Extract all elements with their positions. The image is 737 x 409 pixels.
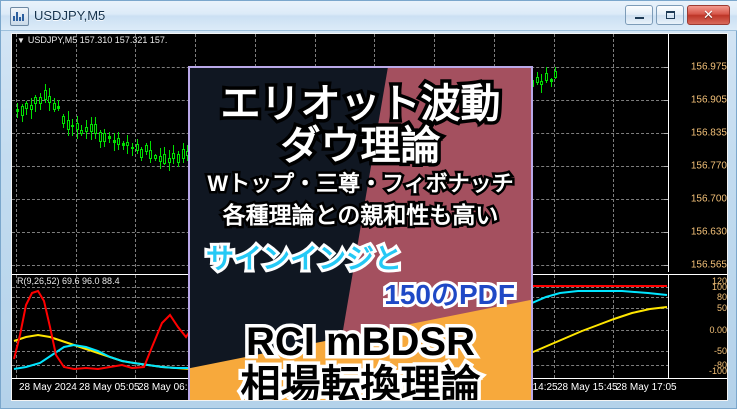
time-axis-label: 28 May 2024: [19, 382, 77, 393]
price-axis-label: 156.975: [691, 62, 727, 73]
candle-body: [71, 125, 74, 127]
candlestick: [34, 95, 37, 112]
overlay-line-2: ダウ理論: [190, 126, 531, 166]
candle-body: [545, 73, 548, 82]
candle-body: [44, 90, 47, 100]
candlestick: [90, 117, 93, 140]
price-axis-label: 156.905: [691, 95, 727, 106]
candlestick: [53, 98, 56, 112]
price-axis-label: 156.630: [691, 227, 727, 238]
overlay-line-3: Wトップ・三尊・フィボナッチ: [190, 173, 531, 195]
candle-body: [554, 71, 557, 78]
minimize-icon: [626, 6, 652, 24]
candle-body: [99, 132, 102, 143]
candle-body: [80, 130, 83, 134]
candle-body: [145, 145, 148, 152]
indicator-axis-label: -100: [709, 366, 727, 376]
candlestick: [76, 116, 79, 138]
candlestick: [131, 143, 134, 156]
candlestick: [136, 139, 139, 154]
candle-body: [39, 97, 42, 104]
candle-body: [53, 103, 56, 110]
candlestick: [103, 129, 106, 147]
candle-body: [62, 116, 65, 124]
candlestick: [57, 100, 60, 112]
gridline-v: [16, 34, 17, 272]
candlestick: [550, 78, 553, 87]
candle-body: [168, 158, 171, 164]
close-button[interactable]: ✕: [687, 5, 730, 25]
candlestick: [540, 74, 543, 93]
candlestick: [117, 132, 120, 151]
candle-body: [103, 133, 106, 141]
candlestick: [154, 154, 157, 161]
candlestick: [163, 147, 166, 165]
candlestick: [536, 72, 539, 85]
overlay-line-6: 150のPDF: [190, 281, 531, 309]
candle-body: [159, 156, 162, 162]
candlestick: [30, 98, 33, 119]
indicator-axis-separator: [668, 275, 669, 378]
title-bar[interactable]: USDJPY,M5 ✕: [1, 1, 737, 31]
candlestick: [126, 135, 129, 154]
candlestick: [94, 117, 97, 139]
candle-body: [57, 106, 60, 109]
candle-body: [94, 124, 97, 134]
candle-body: [67, 120, 70, 130]
candle-body: [90, 124, 93, 132]
candle-body: [163, 154, 166, 163]
indicator-axis-label: 80: [717, 292, 727, 302]
overlay-line-5: サインインジと: [190, 245, 531, 273]
candle-body: [76, 123, 79, 130]
overlay-line-4: 各種理論との親和性も高い: [190, 204, 531, 227]
candlestick: [62, 114, 65, 127]
overlay-line-8: 相場転換理論: [190, 365, 531, 401]
candlestick: [122, 141, 125, 150]
time-axis-label: 28 May 05:05: [79, 382, 140, 393]
candlestick: [168, 150, 171, 172]
candle-body: [140, 149, 143, 158]
candlestick: [172, 145, 175, 164]
collapse-arrow-icon[interactable]: ▼: [17, 36, 25, 45]
candlestick: [554, 67, 557, 79]
minimize-button[interactable]: [625, 5, 653, 25]
candle-body: [136, 144, 139, 151]
indicator-pane-label: R(9,26,52) 69.6 96.0 88.4: [17, 276, 120, 286]
price-axis-label: 156.835: [691, 128, 727, 139]
overlay-line-7: RCI mBDSR: [190, 322, 531, 362]
candle-body: [21, 106, 24, 116]
price-axis-separator: [668, 34, 669, 272]
close-icon: ✕: [688, 6, 729, 24]
candlestick: [48, 88, 51, 111]
candle-body: [117, 138, 120, 145]
candle-body: [131, 147, 134, 149]
candlestick: [140, 147, 143, 162]
gridline-v: [76, 34, 77, 272]
chart-icon: [10, 7, 29, 26]
indicator-axis-label: 100: [712, 282, 727, 292]
candlestick: [159, 148, 162, 169]
candlestick: [25, 101, 28, 115]
maximize-icon: [657, 6, 683, 24]
candle-body: [540, 81, 543, 85]
candle-body: [34, 97, 37, 104]
candlestick: [16, 103, 19, 117]
window-title: USDJPY,M5: [34, 6, 105, 25]
candle-body: [85, 127, 88, 131]
candlestick: [108, 132, 111, 143]
candlestick: [113, 133, 116, 151]
indicator-axis-label: 0.00: [709, 325, 727, 335]
candlestick: [99, 130, 102, 147]
candle-body: [48, 96, 51, 102]
time-axis-label: 28 May 15:45: [557, 382, 618, 393]
candlestick: [177, 151, 180, 167]
candle-body: [154, 155, 157, 159]
candle-body: [177, 154, 180, 163]
candlestick: [39, 93, 42, 109]
candle-body: [126, 142, 129, 147]
promo-overlay: エリオット波動 ダウ理論 Wトップ・三尊・フィボナッチ 各種理論との親和性も高い…: [188, 66, 533, 401]
overlay-line-1: エリオット波動: [190, 84, 531, 124]
candlestick: [85, 120, 88, 138]
time-axis-label: 28 May 17:05: [616, 382, 677, 393]
candle-body: [536, 77, 539, 83]
candlestick: [149, 141, 152, 163]
candlestick: [182, 143, 185, 162]
indicator-axis-label: 50: [717, 303, 727, 313]
price-axis-label: 156.700: [691, 194, 727, 205]
candle-body: [172, 153, 175, 159]
price-axis-label: 156.565: [691, 260, 727, 271]
candlestick: [21, 104, 24, 122]
candlestick: [545, 67, 548, 83]
candle-body: [113, 140, 116, 143]
price-axis-label: 156.770: [691, 161, 727, 172]
maximize-button[interactable]: [656, 5, 684, 25]
application-window: USDJPY,M5 ✕ 156.975156.905156.835156.770…: [0, 0, 737, 409]
candle-wick: [72, 119, 73, 135]
chart-client-area[interactable]: 156.975156.905156.835156.770156.700156.6…: [11, 33, 728, 401]
candlestick: [71, 119, 74, 135]
candlestick: [44, 84, 47, 103]
indicator-axis-label: -50: [714, 346, 727, 356]
price-pane-label: ▼USDJPY,M5 157.310 157.321 157.: [17, 35, 167, 45]
candle-body: [149, 150, 152, 160]
candlestick: [80, 125, 83, 136]
gridline-v: [613, 34, 614, 272]
price-pane-label-text: USDJPY,M5 157.310 157.321 157.: [28, 35, 167, 45]
candlestick: [67, 111, 70, 135]
candle-body: [108, 136, 111, 139]
candle-body: [16, 109, 19, 111]
candle-body: [182, 149, 185, 159]
candle-body: [550, 79, 553, 82]
candlestick: [145, 143, 148, 155]
candle-body: [25, 103, 28, 109]
candle-body: [122, 143, 125, 147]
candle-body: [30, 105, 33, 110]
